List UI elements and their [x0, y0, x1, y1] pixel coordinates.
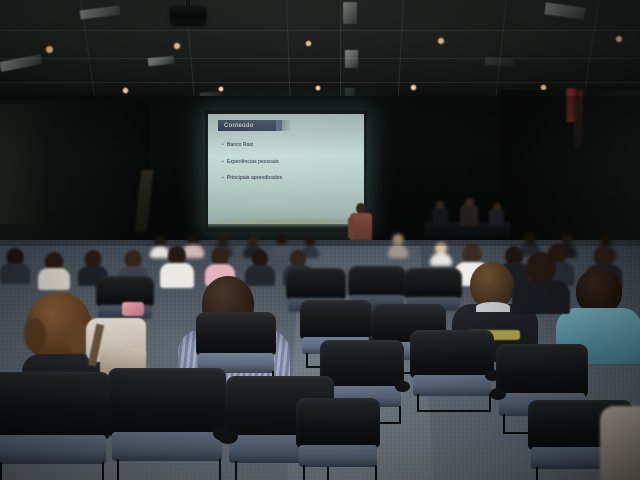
downlight: [410, 84, 417, 91]
foreground-garment: [600, 406, 640, 480]
ceiling-projector: [170, 6, 206, 25]
torso: [38, 268, 70, 290]
bullet-marker-icon: •: [222, 159, 224, 165]
chair-seat: [299, 445, 378, 467]
chair-seat: [112, 432, 223, 462]
phone-in-hand: [122, 302, 144, 316]
list-item: [38, 252, 70, 290]
downlight: [173, 42, 181, 50]
chair-backrest: [196, 312, 276, 356]
head: [594, 246, 614, 267]
slide-bullet-text: Principais aprendizados: [227, 175, 282, 181]
front-person-head: [465, 198, 474, 207]
front-person-head: [493, 203, 501, 211]
ceiling-light-fixture: [345, 50, 358, 68]
slide-bullet-text: Experiências pessoais: [227, 159, 279, 165]
slide-bullet-3: •Principais aprendizados: [222, 175, 282, 181]
slide-title-bar: Conteúdo: [218, 120, 282, 131]
chair: [296, 398, 380, 480]
downlight: [122, 87, 129, 94]
downlight: [615, 35, 623, 43]
chair-seat: [0, 435, 106, 464]
chair-backrest: [0, 372, 110, 439]
slide-bullet-1: •Banco Raiz: [222, 142, 253, 148]
slide-title: Conteúdo: [224, 123, 254, 129]
chair-frame: [117, 459, 220, 480]
front-seated-person: [432, 206, 448, 226]
chair: [410, 330, 494, 410]
front-person-head: [436, 201, 444, 209]
auditorium-photo: Conteúdo •Banco Raiz •Experiências pesso…: [0, 0, 640, 480]
slide-bullet-text: Banco Raiz: [227, 142, 254, 148]
chair-backrest: [410, 330, 494, 378]
projection-screen: Conteúdo •Banco Raiz •Experiências pesso…: [208, 114, 364, 228]
chair-armrest: [218, 429, 237, 444]
list-item: [388, 234, 408, 258]
slide-bottom-edge: [208, 224, 364, 228]
chair: [0, 372, 110, 480]
chair-seat: [413, 375, 492, 396]
chair-backrest: [300, 300, 372, 340]
chair-backrest: [286, 268, 346, 300]
downlight: [45, 45, 54, 54]
chair-backrest: [496, 344, 588, 397]
audience-member-right-back: [512, 252, 568, 312]
front-seated-person: [460, 204, 478, 226]
chair-backrest: [296, 398, 380, 448]
chair-frame: [0, 462, 104, 480]
ceiling-light-fixture: [343, 2, 357, 24]
extinguisher-hose: [574, 100, 580, 148]
left-wall-panel: [0, 104, 44, 224]
chair-backrest: [108, 368, 226, 436]
screen-glare: [208, 114, 364, 228]
presenter-arm: [348, 217, 354, 239]
projector-mount: [186, 0, 190, 8]
list-item: [430, 242, 452, 266]
head: [463, 244, 482, 264]
bullet-marker-icon: •: [222, 175, 224, 181]
chair-frame: [303, 465, 378, 480]
downlight: [437, 37, 445, 45]
bullet-marker-icon: •: [222, 142, 224, 148]
chair-frame: [417, 394, 492, 412]
hair-curl: [24, 318, 46, 352]
chair-backrest: [348, 266, 406, 297]
downlight: [305, 40, 312, 47]
chair: [108, 368, 226, 480]
list-item: [0, 248, 30, 284]
torso: [0, 263, 30, 284]
downlight: [315, 85, 321, 91]
torso: [388, 244, 408, 258]
collar: [476, 302, 510, 312]
slide-bullet-2: •Experiências pessoais: [222, 159, 279, 165]
torso: [430, 253, 452, 266]
torso: [512, 280, 570, 314]
